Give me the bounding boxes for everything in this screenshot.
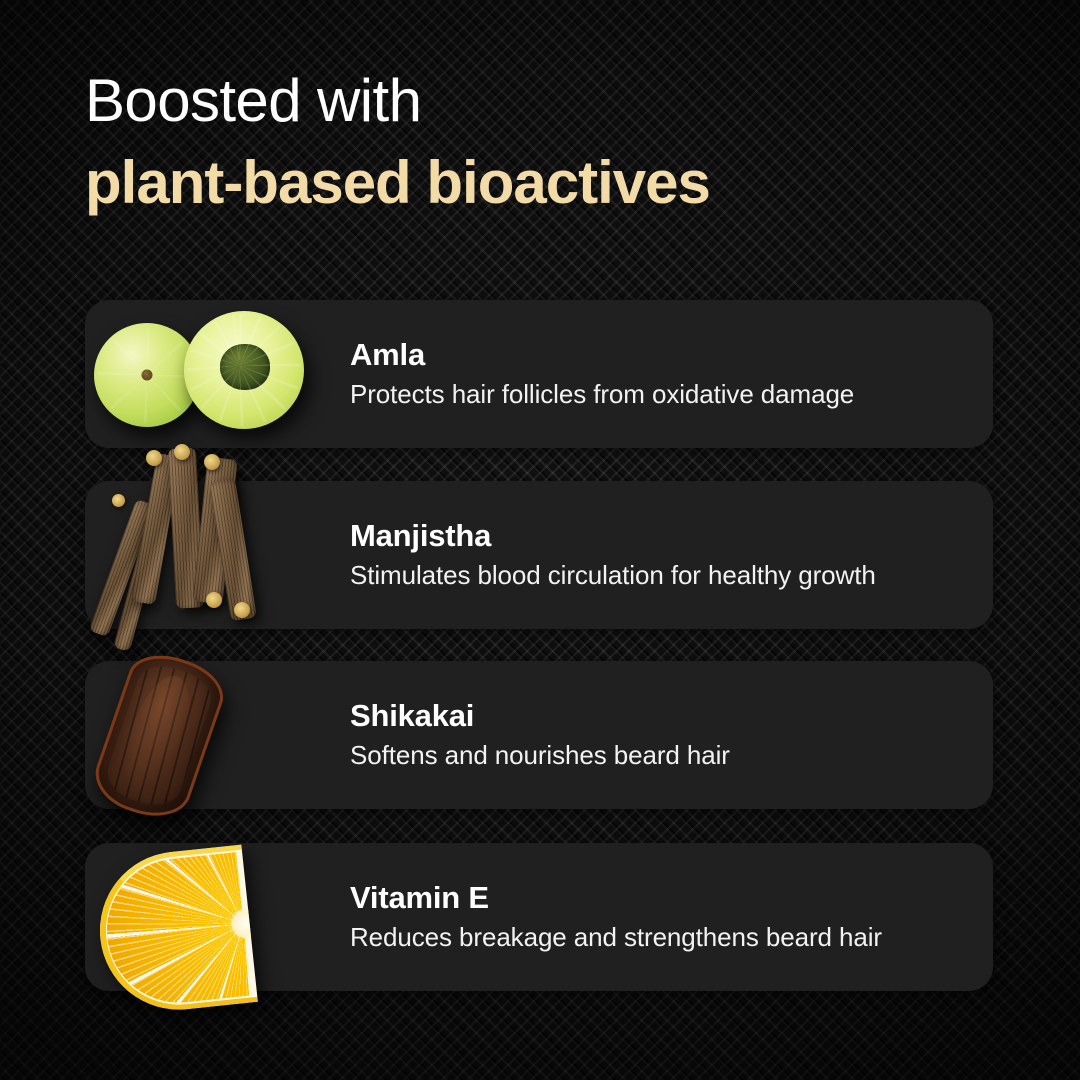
ingredient-card-amla: Amla Protects hair follicles from oxidat…: [85, 300, 993, 448]
headline-line-1: Boosted with: [85, 72, 710, 130]
ingredient-card-manjistha: Manjistha Stimulates blood circulation f…: [85, 481, 993, 629]
headline-block: Boosted with plant-based bioactives: [85, 72, 710, 212]
promo-graphic-page: Boosted with plant-based bioactives Amla…: [0, 0, 1080, 1080]
ingredient-description: Reduces breakage and strengthens beard h…: [350, 922, 970, 953]
ingredient-description: Stimulates blood circulation for healthy…: [350, 560, 970, 591]
ingredient-name: Manjistha: [350, 519, 970, 553]
ingredient-card-text: Manjistha Stimulates blood circulation f…: [350, 519, 970, 591]
root-cut-end: [146, 450, 162, 466]
ingredient-card-text: Shikakai Softens and nourishes beard hai…: [350, 699, 970, 771]
root-cut-end: [204, 454, 220, 470]
ingredient-card-text: Vitamin E Reduces breakage and strengthe…: [350, 881, 970, 953]
ingredient-card-vitamin-e: Vitamin E Reduces breakage and strengthe…: [85, 843, 993, 991]
headline-line-2: plant-based bioactives: [85, 154, 710, 212]
ingredient-card-text: Amla Protects hair follicles from oxidat…: [350, 338, 970, 410]
ingredient-name: Vitamin E: [350, 881, 970, 915]
ingredient-name: Shikakai: [350, 699, 970, 733]
ingredient-description: Softens and nourishes beard hair: [350, 740, 970, 771]
ingredient-name: Amla: [350, 338, 970, 372]
ingredient-card-shikakai: Shikakai Softens and nourishes beard hai…: [85, 661, 993, 809]
ingredient-description: Protects hair follicles from oxidative d…: [350, 379, 970, 410]
